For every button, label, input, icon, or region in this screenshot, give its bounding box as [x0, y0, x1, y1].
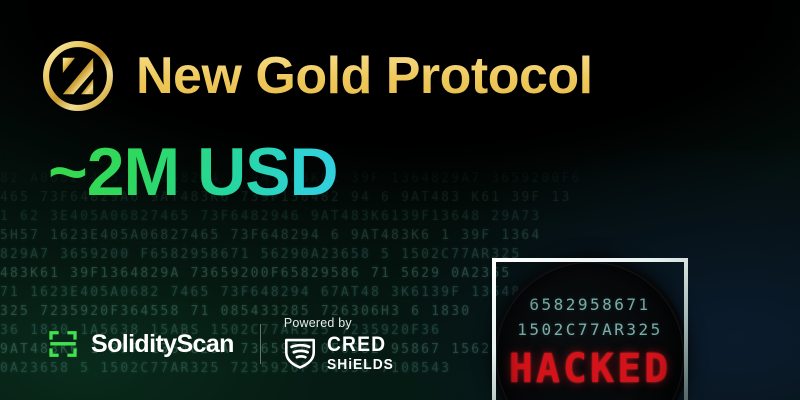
promo-banner: 38A5718 6D29F6582958671562908236584715 8… — [0, 0, 800, 400]
lens-code-line: 6582958671 — [500, 292, 680, 317]
solidityscan-logo[interactable]: SolidityScan — [48, 329, 234, 359]
footer-brands: SolidityScan Powered by CRED SHiELDS — [48, 317, 400, 373]
powered-by-label: Powered by — [283, 317, 400, 330]
lens-code-line: 23E405A0682748 — [500, 396, 680, 400]
shield-wifi-icon — [283, 337, 317, 369]
scanner-bracket-icon — [48, 329, 78, 359]
magnifying-glass-icon: 6582958671 1502C77AR325 HACKED 23E405A06… — [492, 258, 692, 400]
magnifier-lens: 6582958671 1502C77AR325 HACKED 23E405A06… — [492, 258, 688, 400]
loss-amount: ~2M USD — [48, 138, 338, 206]
credshields-block[interactable]: Powered by CRED SHiELDS — [283, 317, 400, 373]
hacked-alert-text: HACKED — [500, 345, 680, 393]
credshields-line2: SHiELDS — [327, 357, 394, 372]
footer-divider — [260, 324, 261, 364]
gold-coin-logo-icon — [40, 38, 116, 114]
credshields-line1: CRED — [327, 334, 394, 355]
solidityscan-label: SolidityScan — [91, 332, 234, 357]
brand-header: New Gold Protocol — [40, 38, 593, 114]
hex-row: 5H57 1623E405A06827465 73F648294 6 9AT48… — [0, 226, 800, 245]
credshields-logo[interactable]: CRED SHiELDS — [283, 334, 400, 372]
lens-code-line: 1502C77AR325 — [500, 317, 680, 342]
page-title: New Gold Protocol — [136, 50, 593, 102]
